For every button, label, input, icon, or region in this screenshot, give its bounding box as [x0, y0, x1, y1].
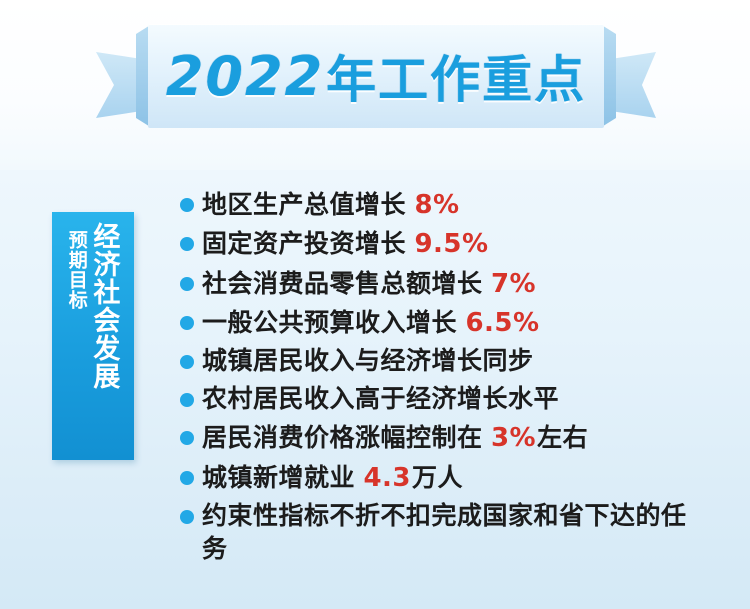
list-item: 一般公共预算收入增长 6.5%: [180, 306, 700, 340]
list-item-highlight: 4.3: [362, 463, 412, 493]
list-item: 城镇新增就业 4.3万人: [180, 461, 700, 495]
list-item: 农村居民收入高于经济增长水平: [180, 383, 700, 416]
list-item-highlight: 8%: [413, 190, 460, 220]
list-item: 约束性指标不折不扣完成国家和省下达的任务: [180, 500, 700, 566]
list-item-text: 社会消费品零售总额增长 7%: [202, 267, 537, 301]
list-item-text: 城镇居民收入与经济增长同步: [202, 345, 534, 378]
list-item: 社会消费品零售总额增长 7%: [180, 267, 700, 301]
bullet-dot-icon: [180, 277, 194, 291]
list-item: 城镇居民收入与经济增长同步: [180, 345, 700, 378]
bullet-dot-icon: [180, 237, 194, 251]
list-item-prefix: 一般公共预算收入增长: [202, 309, 464, 337]
list-item-suffix: 万人: [412, 464, 463, 492]
list-item: 固定资产投资增长 9.5%: [180, 227, 700, 261]
list-item-prefix: 地区生产总值增长: [202, 191, 413, 219]
list-item-text: 居民消费价格涨幅控制在 3%左右: [202, 421, 588, 455]
title-ribbon: 2022年工作重点: [96, 18, 656, 136]
category-label-primary: 经济社会发展: [90, 222, 119, 390]
list-item-suffix: 左右: [537, 424, 588, 452]
list-item-prefix: 约束性指标不折不扣完成国家和省下达的任务: [202, 502, 687, 563]
list-item-prefix: 城镇居民收入与经济增长同步: [202, 347, 534, 375]
bullet-dot-icon: [180, 393, 194, 407]
bullet-dot-icon: [180, 198, 194, 212]
title-year: 2022: [166, 45, 324, 108]
list-item: 居民消费价格涨幅控制在 3%左右: [180, 421, 700, 455]
list-item-prefix: 居民消费价格涨幅控制在: [202, 424, 490, 452]
list-item-text: 一般公共预算收入增长 6.5%: [202, 306, 541, 340]
bullet-dot-icon: [180, 471, 194, 485]
list-item-text: 城镇新增就业 4.3万人: [202, 461, 463, 495]
list-item-text: 约束性指标不折不扣完成国家和省下达的任务: [202, 500, 700, 566]
list-item-prefix: 城镇新增就业: [202, 464, 362, 492]
list-item-highlight: 6.5%: [464, 308, 540, 338]
list-item-text: 地区生产总值增长 8%: [202, 188, 461, 222]
list-item-prefix: 社会消费品零售总额增长: [202, 270, 490, 298]
bullet-dot-icon: [180, 316, 194, 330]
poster-root: 2022年工作重点 经济社会发展 预期目标 地区生产总值增长 8%固定资产投资增…: [0, 0, 750, 609]
category-label-block: 经济社会发展 预期目标: [52, 212, 134, 460]
list-item-highlight: 7%: [490, 269, 537, 299]
bullet-dot-icon: [180, 510, 194, 524]
list-item: 地区生产总值增长 8%: [180, 188, 700, 222]
list-item-prefix: 固定资产投资增长: [202, 230, 413, 258]
goal-list: 地区生产总值增长 8%固定资产投资增长 9.5%社会消费品零售总额增长 7%一般…: [180, 188, 700, 571]
bullet-dot-icon: [180, 355, 194, 369]
list-item-text: 农村居民收入高于经济增长水平: [202, 383, 559, 416]
list-item-prefix: 农村居民收入高于经济增长水平: [202, 385, 559, 413]
list-item-highlight: 3%: [490, 423, 537, 453]
page-title: 2022年工作重点: [148, 24, 604, 128]
list-item-highlight: 9.5%: [413, 229, 489, 259]
title-suffix: 年工作重点: [326, 40, 586, 112]
list-item-text: 固定资产投资增长 9.5%: [202, 227, 490, 261]
bullet-dot-icon: [180, 431, 194, 445]
category-label-secondary: 预期目标: [66, 222, 86, 310]
